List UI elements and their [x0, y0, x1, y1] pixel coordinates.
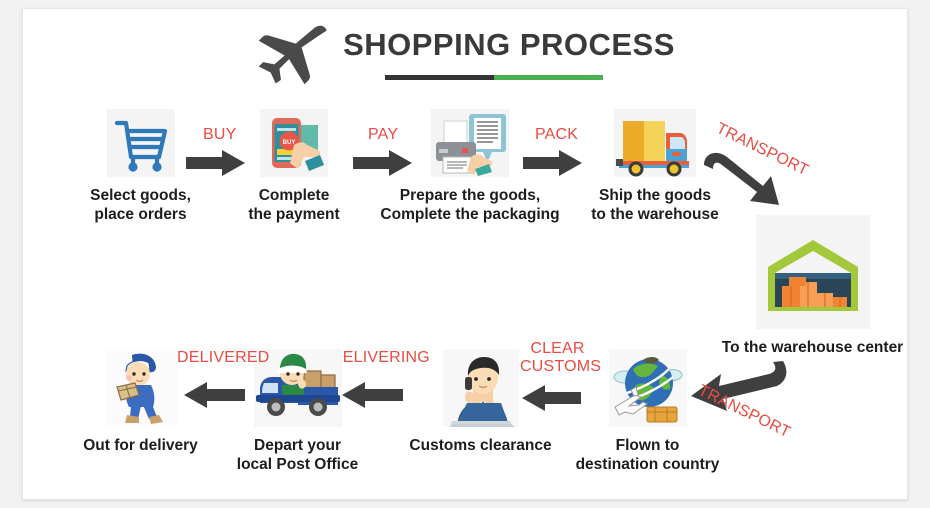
step-label: Out for delivery: [63, 436, 218, 455]
page-title: SHOPPING PROCESS: [343, 29, 675, 60]
step-label: Select goods, place orders: [59, 186, 222, 225]
arrow-curve-transport-1: [701, 147, 797, 209]
delivery-truck-icon: [614, 109, 696, 177]
title-underline-left: [385, 75, 494, 80]
title-underline: [385, 75, 603, 80]
step-depart-post-office[interactable]: Depart your local Post Office: [219, 349, 376, 475]
step-label: Complete the payment: [219, 186, 369, 225]
step-label: Depart your local Post Office: [219, 436, 376, 475]
step-complete-payment[interactable]: BUY Complete the payment: [219, 109, 369, 225]
shopping-process-infographic: SHOPPING PROCESS Select: [0, 0, 930, 508]
step-label: Prepare the goods, Complete the packagin…: [361, 186, 579, 225]
title-underline-right: [494, 75, 603, 80]
header: SHOPPING PROCESS: [23, 23, 907, 85]
globe-airplane-icon: [609, 349, 687, 427]
airplane-icon: [255, 23, 329, 85]
infographic-card: SHOPPING PROCESS Select: [22, 8, 908, 500]
customs-officer-icon: [443, 349, 519, 427]
step-label: Customs clearance: [398, 436, 563, 455]
step-out-for-delivery[interactable]: Out for delivery: [63, 349, 218, 455]
mobile-payment-icon: BUY: [260, 109, 328, 177]
courier-icon: [105, 349, 177, 427]
step-label: To the warehouse center: [709, 338, 916, 357]
warehouse-icon: [756, 215, 870, 329]
step-label: Flown to destination country: [565, 436, 730, 475]
shopping-cart-icon: [107, 109, 175, 177]
svg-text:BUY: BUY: [283, 140, 296, 146]
printer-document-icon: [431, 109, 509, 177]
step-warehouse-center[interactable]: To the warehouse center: [709, 215, 916, 357]
